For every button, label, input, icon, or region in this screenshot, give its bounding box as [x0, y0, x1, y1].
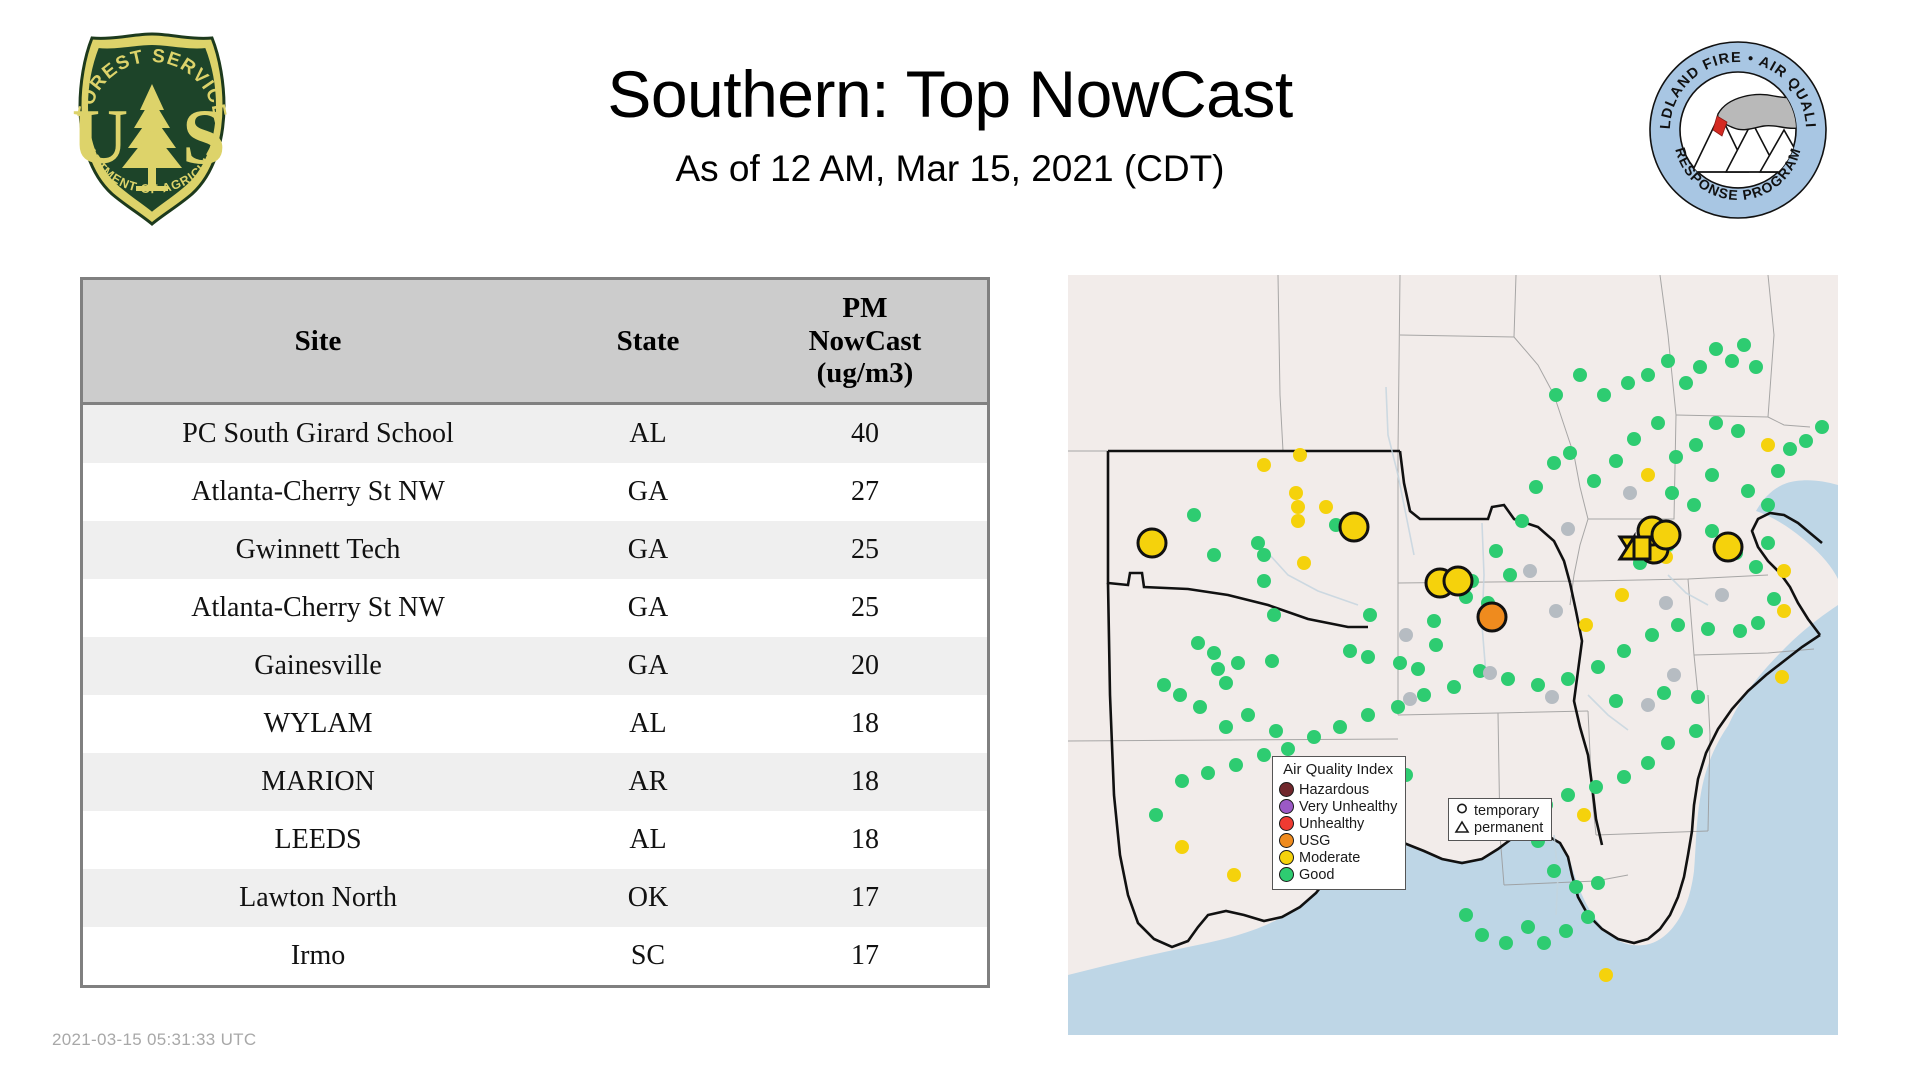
aqi-legend-row: Moderate [1279, 849, 1397, 866]
aqi-legend-title: Air Quality Index [1279, 761, 1397, 778]
table-cell-pm: 18 [743, 811, 987, 869]
table-cell-state: AL [553, 404, 743, 464]
triangle-icon [1454, 820, 1470, 835]
column-header-pm-line3: (ug/m3) [747, 357, 983, 390]
aqi-swatch-icon [1279, 867, 1294, 882]
table-cell-pm: 25 [743, 579, 987, 637]
table-row: WYLAMAL18 [83, 695, 987, 753]
page-subtitle: As of 12 AM, Mar 15, 2021 (CDT) [260, 148, 1640, 190]
table-cell-pm: 25 [743, 521, 987, 579]
aqi-swatch-icon [1279, 850, 1294, 865]
aqi-swatch-icon [1279, 816, 1294, 831]
aqi-legend-row: USG [1279, 832, 1397, 849]
aqi-legend-label: Good [1299, 867, 1334, 883]
aqi-swatch-icon [1279, 782, 1294, 797]
page-title: Southern: Top NowCast [260, 60, 1640, 129]
aqi-legend-label: Moderate [1299, 850, 1360, 866]
aqi-swatch-icon [1279, 833, 1294, 848]
table-row: Atlanta-Cherry St NWGA25 [83, 579, 987, 637]
map-marker-leeds [1444, 567, 1472, 595]
column-header-site: Site [83, 280, 553, 404]
table-cell-site: WYLAM [83, 695, 553, 753]
aqi-legend: Air Quality Index HazardousVery Unhealth… [1272, 756, 1406, 890]
table-cell-pm: 17 [743, 869, 987, 927]
map-marker-atlanta-cherry-b [1652, 521, 1680, 549]
table-cell-site: Gainesville [83, 637, 553, 695]
table-cell-pm: 40 [743, 404, 987, 464]
column-header-state: State [553, 280, 743, 404]
aqi-swatch-icon [1279, 799, 1294, 814]
table-row: Gwinnett TechGA25 [83, 521, 987, 579]
table-cell-site: Gwinnett Tech [83, 521, 553, 579]
map-marker-irmo [1714, 533, 1742, 561]
column-header-pm-nowcast: PM NowCast (ug/m3) [743, 280, 987, 404]
aqi-legend-row: Good [1279, 866, 1397, 883]
table-cell-pm: 18 [743, 753, 987, 811]
table-cell-state: GA [553, 637, 743, 695]
legend-row-temporary: temporary [1454, 802, 1543, 819]
table-cell-site: Irmo [83, 927, 553, 985]
monitor-type-legend: temporary permanent [1448, 798, 1552, 841]
map-marker-pc-south-girard [1478, 603, 1506, 631]
southern-region-air-quality-map[interactable]: Air Quality Index HazardousVery Unhealth… [1068, 275, 1838, 1035]
table-cell-pm: 18 [743, 695, 987, 753]
legend-row-permanent: permanent [1454, 819, 1543, 836]
generation-timestamp: 2021-03-15 05:31:33 UTC [52, 1030, 256, 1050]
table-row: LEEDSAL18 [83, 811, 987, 869]
table-cell-site: Atlanta-Cherry St NW [83, 463, 553, 521]
table-row: MARIONAR18 [83, 753, 987, 811]
aqi-legend-label: Unhealthy [1299, 816, 1364, 832]
table-row: PC South Girard SchoolAL40 [83, 404, 987, 464]
aqi-legend-label: Hazardous [1299, 782, 1369, 798]
table-cell-state: OK [553, 869, 743, 927]
map-marker-marion [1340, 513, 1368, 541]
usfs-shield-logo: FOREST SERVICE DEPARTMENT OF AGRICULTURE… [52, 28, 252, 228]
wildland-fire-air-quality-seal: WILDLAND FIRE • AIR QUALITY RESPONSE PRO… [1648, 40, 1828, 220]
column-header-pm-line2: NowCast [747, 325, 983, 358]
table-cell-pm: 20 [743, 637, 987, 695]
table-cell-site: LEEDS [83, 811, 553, 869]
table-row: Atlanta-Cherry St NWGA27 [83, 463, 987, 521]
table-row: GainesvilleGA20 [83, 637, 987, 695]
table-cell-site: Lawton North [83, 869, 553, 927]
aqi-legend-label: USG [1299, 833, 1330, 849]
table-cell-pm: 27 [743, 463, 987, 521]
top-nowcast-table: Site State PM NowCast (ug/m3) PC South G… [80, 277, 990, 988]
table-cell-state: GA [553, 521, 743, 579]
table-row: IrmoSC17 [83, 927, 987, 985]
table-cell-site: Atlanta-Cherry St NW [83, 579, 553, 637]
aqi-legend-row: Very Unhealthy [1279, 798, 1397, 815]
circle-icon [1454, 803, 1470, 818]
table-cell-state: AL [553, 811, 743, 869]
table-cell-state: SC [553, 927, 743, 985]
table-cell-site: PC South Girard School [83, 404, 553, 464]
aqi-legend-row: Unhealthy [1279, 815, 1397, 832]
table-row: Lawton NorthOK17 [83, 869, 987, 927]
map-marker-lawton-north [1138, 529, 1166, 557]
legend-label-temporary: temporary [1474, 803, 1539, 819]
svg-text:U: U [72, 93, 128, 180]
aqi-legend-label: Very Unhealthy [1299, 799, 1397, 815]
table-cell-pm: 17 [743, 927, 987, 985]
table-cell-state: AR [553, 753, 743, 811]
table-cell-state: GA [553, 579, 743, 637]
svg-text:S: S [182, 93, 225, 180]
aqi-legend-row: Hazardous [1279, 781, 1397, 798]
legend-label-permanent: permanent [1474, 820, 1543, 836]
table-cell-state: AL [553, 695, 743, 753]
table-cell-site: MARION [83, 753, 553, 811]
table-header-row: Site State PM NowCast (ug/m3) [83, 280, 987, 404]
table-cell-state: GA [553, 463, 743, 521]
column-header-pm-line1: PM [747, 292, 983, 325]
